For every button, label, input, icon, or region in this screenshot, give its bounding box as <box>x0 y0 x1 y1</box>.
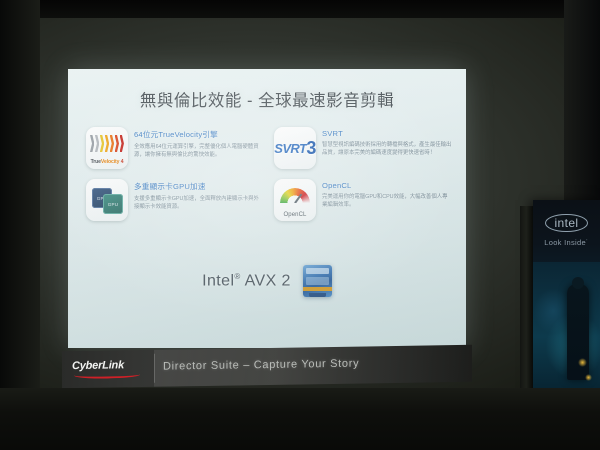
truevelocity-wordmark: TrueVelocity 4 <box>89 159 125 165</box>
feature-body: 支援多重顯示卡GPU加速，全面釋放內建顯示卡與外接顯示卡效能資源。 <box>134 195 264 213</box>
intel-word: Intel <box>202 272 234 289</box>
audience-head-right <box>396 420 458 450</box>
standee-pole <box>520 206 533 402</box>
audience-head-left <box>8 396 82 450</box>
feature-heading: OpenCL <box>322 181 452 190</box>
intel-avx-label: Intel® AVX 2 <box>202 272 291 290</box>
opencl-gauge-icon: OpenCL <box>274 179 316 221</box>
feature-item-opencl: OpenCL OpenCL 完美運用你的電腦GPU和CPU效能，大幅改善個人專業… <box>272 176 454 224</box>
avx-suffix: AVX 2 <box>241 272 291 289</box>
intel-processor-badge-icon <box>303 265 332 297</box>
artwork-glow <box>573 390 585 398</box>
svrt-word: SVRT <box>274 141 306 156</box>
camera-right <box>332 399 372 433</box>
slide-title: 無與倫比效能 - 全球最速影音剪輯 <box>68 87 466 111</box>
feature-body: 智慧型視訊編碼技術採用的轉檔與格式，產生最佳輸出品質，讓原本完美的編碼速度變得更… <box>322 141 452 159</box>
intel-tagline: Look Inside˙ <box>533 238 600 247</box>
feature-text-block: 多重顯示卡GPU加速 支援多重顯示卡GPU加速，全面釋放內建顯示卡與外接顯示卡效… <box>134 179 264 212</box>
cyberlink-swoosh-icon <box>74 371 140 379</box>
svrt3-logo-icon: SVRT3 <box>274 127 316 169</box>
speedometer-icon <box>280 188 310 203</box>
intel-logo: intel <box>533 214 600 232</box>
intel-standee-banner: intel Look Inside˙ <box>533 200 600 398</box>
svrt-version: 3 <box>306 138 315 159</box>
camera-screen <box>336 403 361 423</box>
audience-hand-center <box>252 404 282 450</box>
feature-body: 完美運用你的電腦GPU和CPU效能，大幅改善個人專業編輯效率。 <box>322 193 452 211</box>
camera-left <box>48 402 88 446</box>
feature-heading: 64位元TrueVelocity引擎 <box>134 129 264 140</box>
camera-lens-icon <box>56 406 71 421</box>
badge-accent-bar <box>303 287 332 291</box>
tv-word-true: True <box>91 159 101 165</box>
photo-watermark: #2067 <box>531 421 592 444</box>
audience-hand-right <box>362 400 402 450</box>
wall-left-shadow <box>0 0 40 450</box>
conference-room-scene: 無與倫比效能 - 全球最速影音剪輯 TrueVelocity 4 64位元Tru… <box>0 0 600 450</box>
badge-foot <box>309 293 326 297</box>
feature-heading: SVRT <box>322 129 452 138</box>
slide-footer-bar: CyberLink Director Suite – Capture Your … <box>62 345 472 388</box>
feature-item-svrt: SVRT3 SVRT 智慧型視訊編碼技術採用的轉檔與格式，產生最佳輸出品質，讓原… <box>272 124 454 172</box>
feature-text-block: SVRT 智慧型視訊編碼技術採用的轉檔與格式，產生最佳輸出品質，讓原本完美的編碼… <box>322 127 452 158</box>
feature-heading: 多重顯示卡GPU加速 <box>134 181 264 192</box>
artwork-glow <box>578 358 587 367</box>
feature-text-block: OpenCL 完美運用你的電腦GPU和CPU效能，大幅改善個人專業編輯效率。 <box>322 179 452 210</box>
feature-body: 全效應用64位元運算引擎，完整優化個人電腦硬體資源，讓你擁有無與倫比的驚快效能。 <box>134 143 264 161</box>
audience-hand-grip <box>80 424 106 450</box>
feature-item-multi-gpu: GPU GPU 多重顯示卡GPU加速 支援多重顯示卡GPU加速，全面釋放內建顯示… <box>84 176 266 224</box>
feature-text-block: 64位元TrueVelocity引擎 全效應用64位元運算引擎，完整優化個人電腦… <box>134 127 264 160</box>
truevelocity-logo-icon: TrueVelocity 4 <box>86 127 128 169</box>
tv-word-version: 4 <box>121 159 124 165</box>
feature-grid: TrueVelocity 4 64位元TrueVelocity引擎 全效應用64… <box>84 124 454 224</box>
dual-gpu-chips-icon: GPU GPU <box>86 179 128 221</box>
intel-logo-text: intel <box>545 214 587 232</box>
intel-avx-row: Intel® AVX 2 <box>68 265 466 297</box>
footer-divider <box>154 354 155 383</box>
gpu-chip-secondary: GPU <box>103 194 123 214</box>
opencl-wordmark: OpenCL <box>274 212 316 218</box>
camera-center <box>235 398 268 428</box>
svrt-wordmark: SVRT3 <box>274 127 316 169</box>
character-head <box>572 277 584 289</box>
tv-word-velocity: Velocity <box>101 159 119 165</box>
game-character-artwork <box>533 262 600 398</box>
badge-top-band <box>306 268 329 274</box>
chevron-arrows-icon <box>90 135 124 152</box>
audience-shoulder <box>430 428 600 450</box>
feature-item-truevelocity: TrueVelocity 4 64位元TrueVelocity引擎 全效應用64… <box>84 124 266 172</box>
cyberlink-logo: CyberLink <box>72 359 124 372</box>
artwork-glow <box>585 374 592 381</box>
projected-slide: 無與倫比效能 - 全球最速影音剪輯 TrueVelocity 4 64位元Tru… <box>68 69 466 348</box>
badge-mid-band <box>306 277 329 285</box>
audience-hand-left <box>70 404 106 450</box>
